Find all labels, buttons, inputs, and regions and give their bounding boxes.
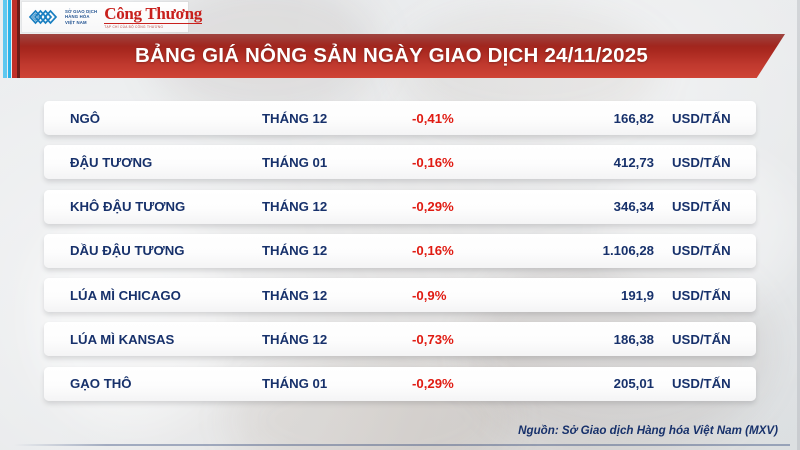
change-percent: -0,29% <box>412 376 548 391</box>
contract-month: THÁNG 01 <box>262 376 412 391</box>
price-value: 1.106,28 <box>548 243 654 258</box>
cong-thuong-subtitle: TẠP CHÍ CỦA BỘ CÔNG THƯƠNG <box>104 25 202 29</box>
contract-month: THÁNG 12 <box>262 243 412 258</box>
infographic-canvas: SỞ GIAO DỊCH HÀNG HÓA VIỆT NAM Công Thươ… <box>0 0 800 450</box>
contract-month: THÁNG 01 <box>262 155 412 170</box>
price-value: 191,9 <box>548 288 654 303</box>
change-percent: -0,29% <box>412 199 548 214</box>
price-unit: USD/TẤN <box>654 332 731 347</box>
footer-divider <box>14 444 790 446</box>
price-unit: USD/TẤN <box>654 243 731 258</box>
source-credit: Nguồn: Sở Giao dịch Hàng hóa Việt Nam (M… <box>518 424 778 437</box>
table-row[interactable]: LÚA MÌ CHICAGOTHÁNG 12-0,9%191,9USD/TẤN <box>44 278 756 312</box>
price-value: 186,38 <box>548 332 654 347</box>
price-unit: USD/TẤN <box>654 199 731 214</box>
table-row[interactable]: NGÔTHÁNG 12-0,41%166,82USD/TẤN <box>44 101 756 135</box>
price-table: NGÔTHÁNG 12-0,41%166,82USD/TẤNĐẬU TƯƠNGT… <box>44 101 756 411</box>
change-percent: -0,16% <box>412 243 548 258</box>
contract-month: THÁNG 12 <box>262 288 412 303</box>
contract-month: THÁNG 12 <box>262 332 412 347</box>
table-row[interactable]: KHÔ ĐẬU TƯƠNGTHÁNG 12-0,29%346,34USD/TẤN <box>44 190 756 224</box>
commodity-name: NGÔ <box>44 111 262 126</box>
contract-month: THÁNG 12 <box>262 199 412 214</box>
table-row[interactable]: LÚA MÌ KANSASTHÁNG 12-0,73%186,38USD/TẤN <box>44 322 756 356</box>
change-percent: -0,73% <box>412 332 548 347</box>
commodity-name: KHÔ ĐẬU TƯƠNG <box>44 199 262 214</box>
contract-month: THÁNG 12 <box>262 111 412 126</box>
price-unit: USD/TẤN <box>654 111 731 126</box>
price-unit: USD/TẤN <box>654 376 731 391</box>
accent-bar-cyan-light <box>3 0 7 78</box>
table-row[interactable]: DẦU ĐẬU TƯƠNGTHÁNG 12-0,16%1.106,28USD/T… <box>44 234 756 268</box>
mxv-line-3: VIỆT NAM <box>65 20 97 26</box>
change-percent: -0,41% <box>412 111 548 126</box>
change-percent: -0,16% <box>412 155 548 170</box>
cong-thuong-logo: Công Thương TẠP CHÍ CỦA BỘ CÔNG THƯƠNG <box>104 5 202 30</box>
commodity-name: DẦU ĐẬU TƯƠNG <box>44 243 262 258</box>
table-row[interactable]: GẠO THÔTHÁNG 01-0,29%205,01USD/TẤN <box>44 367 756 401</box>
price-unit: USD/TẤN <box>654 155 731 170</box>
commodity-name: GẠO THÔ <box>44 376 262 391</box>
table-row[interactable]: ĐẬU TƯƠNGTHÁNG 01-0,16%412,73USD/TẤN <box>44 145 756 179</box>
commodity-name: LÚA MÌ CHICAGO <box>44 288 262 303</box>
change-percent: -0,9% <box>412 288 548 303</box>
accent-bar-red-dark <box>17 0 20 78</box>
left-accent-bars <box>0 0 22 450</box>
page-title: BẢNG GIÁ NÔNG SẢN NGÀY GIAO DỊCH 24/11/2… <box>135 44 670 68</box>
accent-bar-cyan-dark <box>8 0 11 78</box>
mxv-wave-icon <box>27 6 61 28</box>
mxv-wordmark: SỞ GIAO DỊCH HÀNG HÓA VIỆT NAM <box>65 9 97 26</box>
price-unit: USD/TẤN <box>654 288 731 303</box>
price-value: 205,01 <box>548 376 654 391</box>
commodity-name: LÚA MÌ KANSAS <box>44 332 262 347</box>
title-banner: BẢNG GIÁ NÔNG SẢN NGÀY GIAO DỊCH 24/11/2… <box>20 34 785 78</box>
price-value: 346,34 <box>548 199 654 214</box>
logo-plate: SỞ GIAO DỊCH HÀNG HÓA VIỆT NAM Công Thươ… <box>22 2 188 32</box>
commodity-name: ĐẬU TƯƠNG <box>44 155 262 170</box>
price-value: 166,82 <box>548 111 654 126</box>
price-value: 412,73 <box>548 155 654 170</box>
cong-thuong-title: Công Thương <box>104 5 202 22</box>
